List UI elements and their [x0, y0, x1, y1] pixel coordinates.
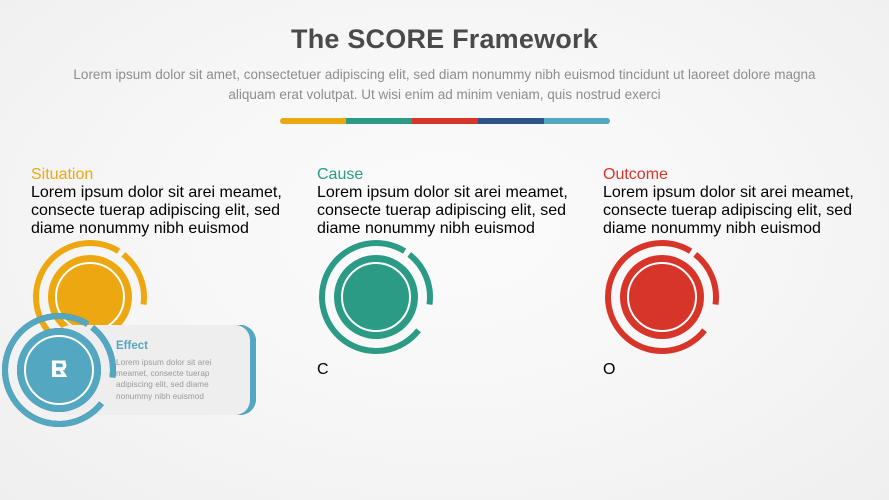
- card-letter: O: [603, 361, 889, 379]
- color-divider-bar: [280, 118, 610, 124]
- card-title: Situation: [31, 166, 317, 184]
- card-title: Effect: [116, 339, 233, 353]
- divider-segment-3: [412, 118, 478, 124]
- divider-segment-1: [280, 118, 346, 124]
- card-letter: C: [317, 361, 603, 379]
- page-subtitle: Lorem ipsum dolor sit amet, consectetuer…: [50, 65, 840, 105]
- slide-canvas: The SCORE Framework Lorem ipsum dolor si…: [0, 0, 889, 500]
- card-body-text: Lorem ipsum dolor sit arei meamet, conse…: [31, 184, 317, 238]
- card-panel: SituationLorem ipsum dolor sit arei meam…: [31, 166, 317, 238]
- card-panel: CauseLorem ipsum dolor sit arei meamet, …: [317, 166, 603, 238]
- card-circle-badge: [0, 311, 118, 429]
- score-card[interactable]: CauseLorem ipsum dolor sit arei meamet, …: [317, 166, 603, 379]
- page-title: The SCORE Framework: [0, 22, 889, 56]
- slide-header: The SCORE Framework Lorem ipsum dolor si…: [0, 22, 889, 105]
- divider-segment-5: [544, 118, 610, 124]
- card-panel: OutcomeLorem ipsum dolor sit arei meamet…: [603, 166, 889, 238]
- score-card[interactable]: OutcomeLorem ipsum dolor sit arei meamet…: [603, 166, 889, 379]
- card-body-text: Lorem ipsum dolor sit arei meamet, conse…: [317, 184, 603, 238]
- card-title: Cause: [317, 166, 603, 184]
- divider-segment-4: [478, 118, 544, 124]
- card-body-text: Lorem ipsum dolor sit arei meamet, conse…: [603, 184, 889, 238]
- card-body-text: Lorem ipsum dolor sit arei meamet, conse…: [116, 357, 233, 402]
- card-circle-badge: [603, 238, 889, 361]
- divider-segment-2: [346, 118, 412, 124]
- card-title: Outcome: [603, 166, 889, 184]
- card-circle-badge: [317, 238, 603, 361]
